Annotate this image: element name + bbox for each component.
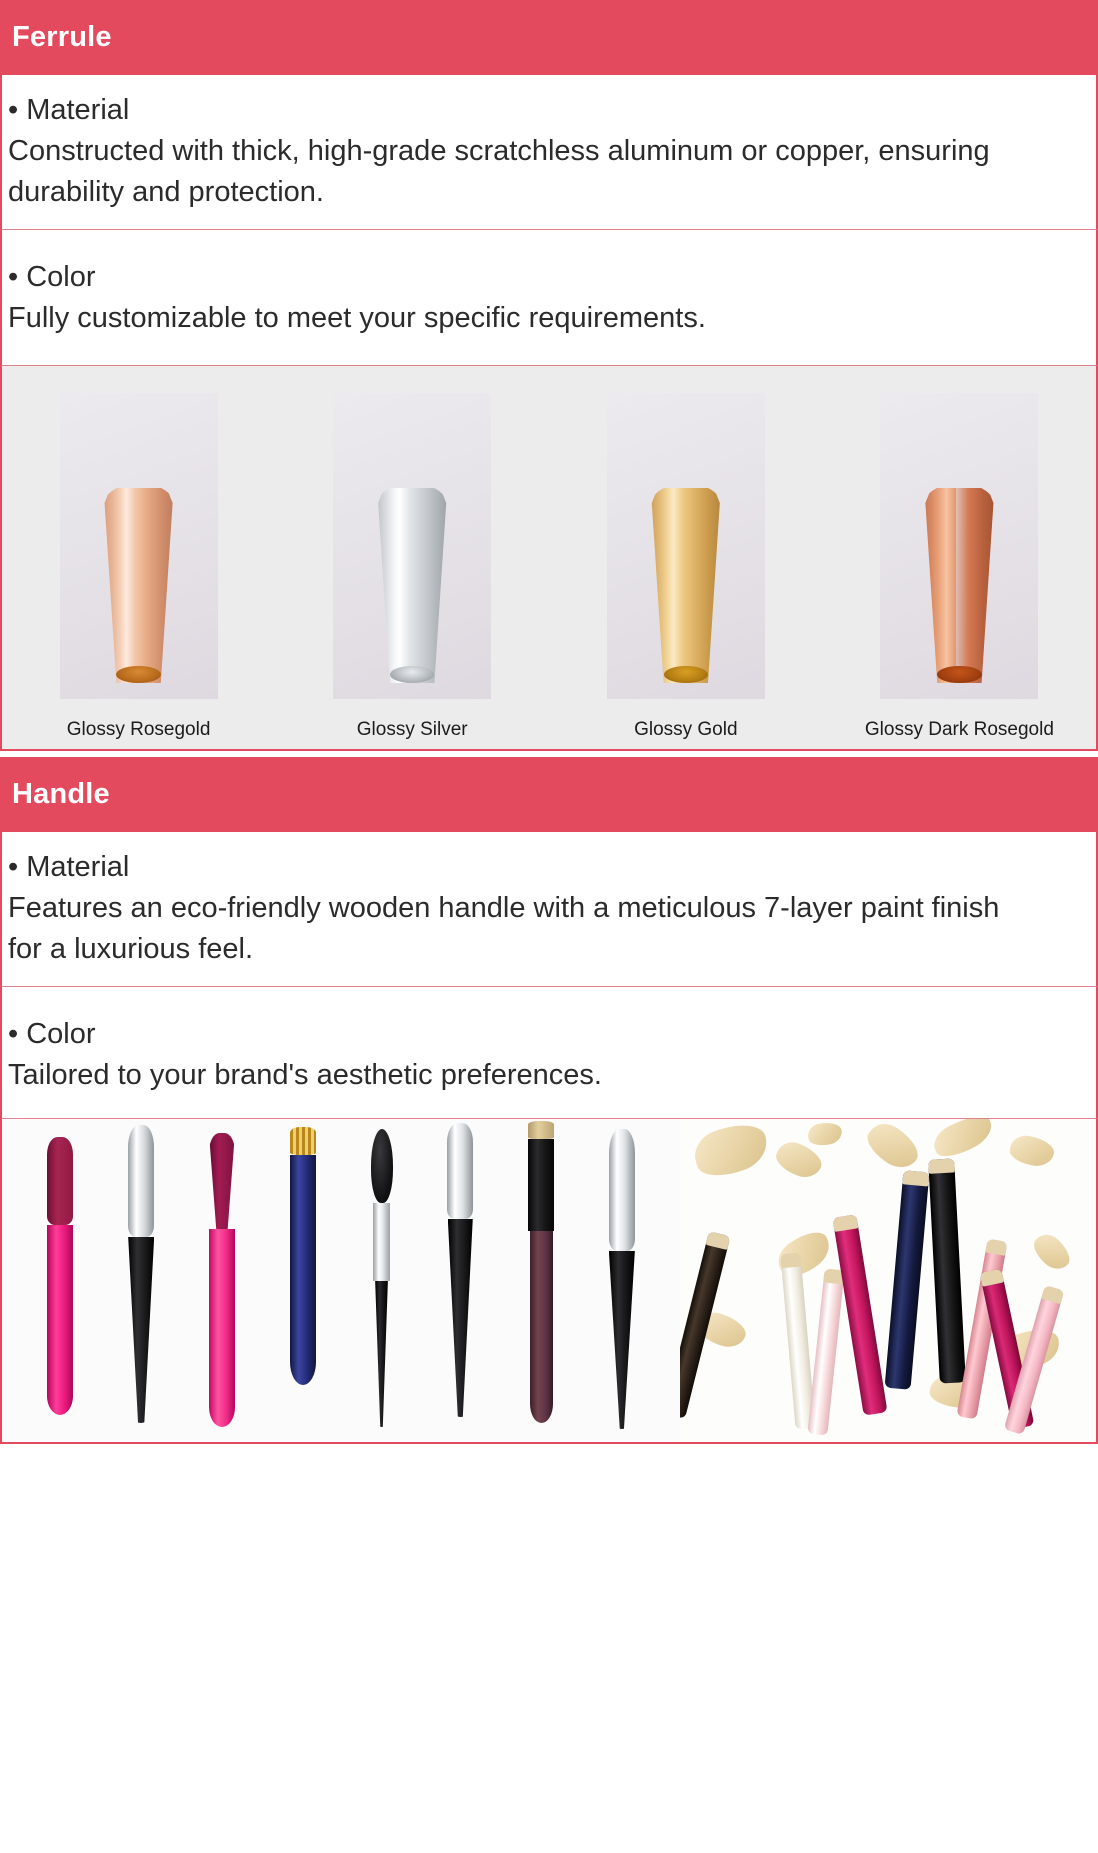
brush-black-silver-long xyxy=(609,1129,635,1429)
wood-shaving xyxy=(929,1119,998,1163)
stick-cap xyxy=(903,1170,930,1186)
wood-stick-magenta xyxy=(833,1214,888,1415)
product-spec-page: Ferrule • Material Constructed with thic… xyxy=(0,0,1098,1853)
brush-pink-tapered xyxy=(209,1133,235,1427)
wood-shaving xyxy=(689,1119,774,1183)
brush-black-dome xyxy=(371,1129,393,1427)
ferrule-color-gallery: Glossy Rosegold Glossy Silver Glossy Gol… xyxy=(0,366,1098,751)
wood-stick-black xyxy=(928,1158,966,1383)
ferrule-color-row: • Color Fully customizable to meet your … xyxy=(0,230,1098,366)
handle-color-bullet: • Color xyxy=(8,1013,1086,1055)
handle-wood-sticks-photo xyxy=(680,1119,1096,1442)
ferrule-swatch-label: Glossy Silver xyxy=(357,719,468,741)
ferrule-swatch-dark-rosegold[interactable]: Glossy Dark Rosegold xyxy=(837,393,1082,741)
ferrule-swatch-label: Glossy Dark Rosegold xyxy=(865,719,1054,741)
wood-stick-pale-pink xyxy=(808,1268,845,1435)
stick-cap xyxy=(706,1231,731,1250)
ferrule-swatch-label: Glossy Rosegold xyxy=(67,719,211,741)
wood-shaving xyxy=(861,1119,925,1176)
ferrule-rim-icon xyxy=(116,666,160,683)
ferrule-color-text: Fully customizable to meet your specific… xyxy=(8,298,1008,339)
stick-cap xyxy=(986,1239,1008,1256)
stick-cap xyxy=(781,1252,802,1268)
ferrule-tube-icon xyxy=(375,483,449,683)
ferrule-color-bullet: • Color xyxy=(8,256,1086,298)
ferrule-rim-icon xyxy=(664,666,708,683)
ferrule-swatch-label: Glossy Gold xyxy=(634,719,737,741)
ferrule-material-row: • Material Constructed with thick, high-… xyxy=(0,75,1098,230)
wood-shaving xyxy=(807,1121,844,1148)
handle-color-text: Tailored to your brand's aesthetic prefe… xyxy=(8,1055,1008,1096)
section-header-ferrule: Ferrule xyxy=(0,0,1098,75)
handle-brushes-photo xyxy=(2,1119,680,1442)
ferrule-photo-silver xyxy=(333,393,491,699)
ferrule-swatch-silver[interactable]: Glossy Silver xyxy=(290,393,535,741)
brush-plum-flat xyxy=(528,1121,554,1423)
handle-material-bullet: • Material xyxy=(8,846,1086,888)
ferrule-material-bullet: • Material xyxy=(8,89,1086,131)
ferrule-swatch-gold[interactable]: Glossy Gold xyxy=(563,393,808,741)
ferrule-photo-rosegold xyxy=(60,393,218,699)
ferrule-rim-icon xyxy=(390,666,434,683)
brush-magenta-flat xyxy=(47,1137,73,1415)
stick-cap xyxy=(980,1268,1004,1286)
stick-cap xyxy=(833,1214,859,1232)
wood-stick-navy xyxy=(885,1170,930,1389)
brush-black-silver-ferrule xyxy=(447,1123,473,1417)
wood-shaving xyxy=(1008,1133,1057,1170)
handle-material-text: Features an eco-friendly wooden handle w… xyxy=(8,888,1008,970)
ferrule-photo-gold xyxy=(607,393,765,699)
ferrule-tube-icon xyxy=(649,483,723,683)
handle-color-row: • Color Tailored to your brand's aesthet… xyxy=(0,987,1098,1119)
brush-navy-gold-ferrule xyxy=(290,1127,316,1385)
ferrule-tube-icon xyxy=(102,483,176,683)
wood-photo-canvas xyxy=(680,1119,1096,1442)
stick-cap xyxy=(928,1158,955,1173)
stick-cap xyxy=(1041,1285,1064,1304)
wood-shaving xyxy=(1029,1229,1076,1275)
section-header-handle: Handle xyxy=(0,757,1098,832)
brush-black-pointed xyxy=(128,1125,154,1423)
ferrule-material-text: Constructed with thick, high-grade scrat… xyxy=(8,131,1008,213)
ferrule-tube-icon xyxy=(922,483,996,683)
ferrule-photo-dark-rosegold xyxy=(880,393,1038,699)
ferrule-swatch-rosegold[interactable]: Glossy Rosegold xyxy=(16,393,261,741)
handle-material-row: • Material Features an eco-friendly wood… xyxy=(0,832,1098,987)
handle-photo-gallery xyxy=(0,1119,1098,1444)
ferrule-rim-icon xyxy=(937,666,981,683)
